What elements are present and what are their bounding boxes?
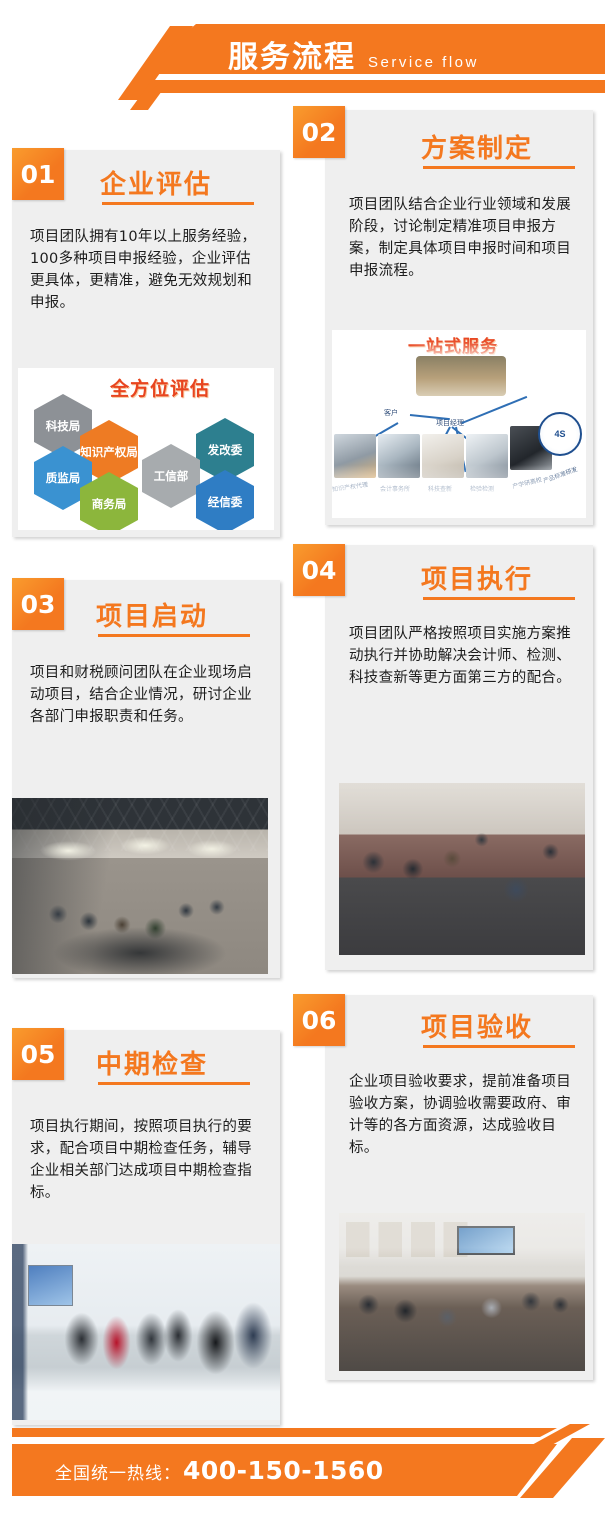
one-stop-seal-icon: 4S bbox=[538, 412, 582, 456]
hexagon-node-label-3: 质监局 bbox=[46, 472, 81, 485]
step-title-03: 项目启动 bbox=[96, 596, 208, 633]
step-title-06: 项目验收 bbox=[421, 1007, 533, 1044]
page-footer: 全国统一热线： 400-150-1560 bbox=[0, 1400, 605, 1538]
wall-certificates bbox=[346, 1222, 494, 1257]
photo-site-visit bbox=[12, 1244, 280, 1420]
hexagon-node-4: 工信部 bbox=[142, 444, 200, 508]
step-card-03[interactable]: 项目启动 项目和财税顾问团队在企业现场启动项目，结合企业情况，研讨企业各部门申报… bbox=[12, 580, 280, 978]
lobby-display-screen bbox=[28, 1265, 73, 1306]
photo-working-session bbox=[339, 783, 585, 955]
step-badge-05: 05 bbox=[12, 1028, 64, 1080]
footer-stripe bbox=[12, 1428, 557, 1437]
page-title-cn: 服务流程 bbox=[228, 32, 356, 76]
page-title: 服务流程 Service flow bbox=[228, 32, 479, 76]
step-title-02: 方案制定 bbox=[421, 128, 533, 165]
hexagon-assessment-chart: 全方位评估 科技局 知识产权局 发改委 质监局 工信部 商务局 经信委 bbox=[18, 368, 274, 530]
step-body-03: 项目和财税顾问团队在企业现场启动项目，结合企业情况，研讨企业各部门申报职责和任务… bbox=[30, 662, 262, 728]
photo-conference-room bbox=[339, 1213, 585, 1371]
step-body-06: 企业项目验收要求，提前准备项目验收方案，协调验收需要政府、审计等的各方面资源，达… bbox=[349, 1071, 575, 1159]
step-title-rule-03 bbox=[98, 634, 250, 637]
step-title-rule-05 bbox=[98, 1082, 250, 1085]
step-card-06[interactable]: 项目验收 企业项目验收要求，提前准备项目验收方案，协调验收需要政府、审计等的各方… bbox=[325, 995, 593, 1380]
hotline-label: 全国统一热线： bbox=[55, 1459, 181, 1484]
hexagon-node-label-5: 商务局 bbox=[92, 498, 127, 511]
step-title-01: 企业评估 bbox=[100, 164, 212, 201]
step-body-04: 项目团队严格按照项目实施方案推动执行并协助解决会计师、检测、科技查新等更方面第三… bbox=[349, 623, 575, 689]
step-body-01: 项目团队拥有10年以上服务经验，100多种项目申报经验，企业评估更具体，更精准，… bbox=[30, 226, 262, 314]
step-badge-01: 01 bbox=[12, 148, 64, 200]
step-card-04[interactable]: 项目执行 项目团队严格按照项目实施方案推动执行并协助解决会计师、检测、科技查新等… bbox=[325, 545, 593, 970]
step-title-04: 项目执行 bbox=[421, 559, 533, 596]
one-stop-fade bbox=[332, 465, 586, 518]
page-header: 服务流程 Service flow bbox=[0, 0, 605, 110]
step-badge-06: 06 bbox=[293, 994, 345, 1046]
one-stop-title: 一站式服务 bbox=[408, 332, 498, 357]
one-stop-arrow-4 bbox=[462, 396, 528, 424]
hexagon-node-label-1: 知识产权局 bbox=[80, 446, 138, 459]
presentation-screen bbox=[457, 1226, 515, 1255]
step-badge-03: 03 bbox=[12, 578, 64, 630]
header-stripe bbox=[148, 80, 605, 93]
hexagon-node-label-0: 科技局 bbox=[46, 420, 81, 433]
step-title-rule-04 bbox=[423, 597, 575, 600]
step-badge-04: 04 bbox=[293, 544, 345, 596]
step-card-05[interactable]: 中期检查 项目执行期间，按照项目执行的要求，配合项目中期检查任务，辅导企业相关部… bbox=[12, 1030, 280, 1425]
one-stop-hub-photo bbox=[416, 356, 506, 396]
one-stop-seal-text: 4S bbox=[554, 429, 565, 439]
one-stop-service-diagram: 一站式服务 客户 项目经理 4S 知识产权代理 会计事务所 科技查新 检验检测 … bbox=[332, 330, 586, 518]
hexagon-node-label-6: 经信委 bbox=[208, 496, 243, 509]
hotline-number[interactable]: 400-150-1560 bbox=[183, 1456, 384, 1485]
step-title-rule-06 bbox=[423, 1045, 575, 1048]
step-body-05: 项目执行期间，按照项目执行的要求，配合项目中期检查任务，辅导企业相关部门达成项目… bbox=[30, 1116, 262, 1204]
one-stop-arrow-0 bbox=[410, 414, 450, 420]
step-title-rule-01 bbox=[102, 202, 254, 205]
hexagon-node-label-4: 工信部 bbox=[154, 470, 189, 483]
photo-meeting-room bbox=[12, 798, 268, 974]
page-title-en: Service flow bbox=[368, 54, 479, 71]
step-title-rule-02 bbox=[423, 166, 575, 169]
step-badge-02: 02 bbox=[293, 106, 345, 158]
one-stop-label-customer: 客户 bbox=[384, 408, 398, 418]
hotline[interactable]: 全国统一热线： 400-150-1560 bbox=[55, 1456, 384, 1485]
hexagon-chart-title: 全方位评估 bbox=[110, 374, 210, 401]
hexagon-node-6: 经信委 bbox=[196, 470, 254, 530]
step-title-05: 中期检查 bbox=[96, 1044, 208, 1081]
ceiling-pattern bbox=[12, 798, 268, 851]
hexagon-node-label-2: 发改委 bbox=[208, 444, 243, 457]
step-body-02: 项目团队结合企业行业领域和发展阶段，讨论制定精准项目申报方案，制定具体项目申报时… bbox=[349, 194, 575, 282]
